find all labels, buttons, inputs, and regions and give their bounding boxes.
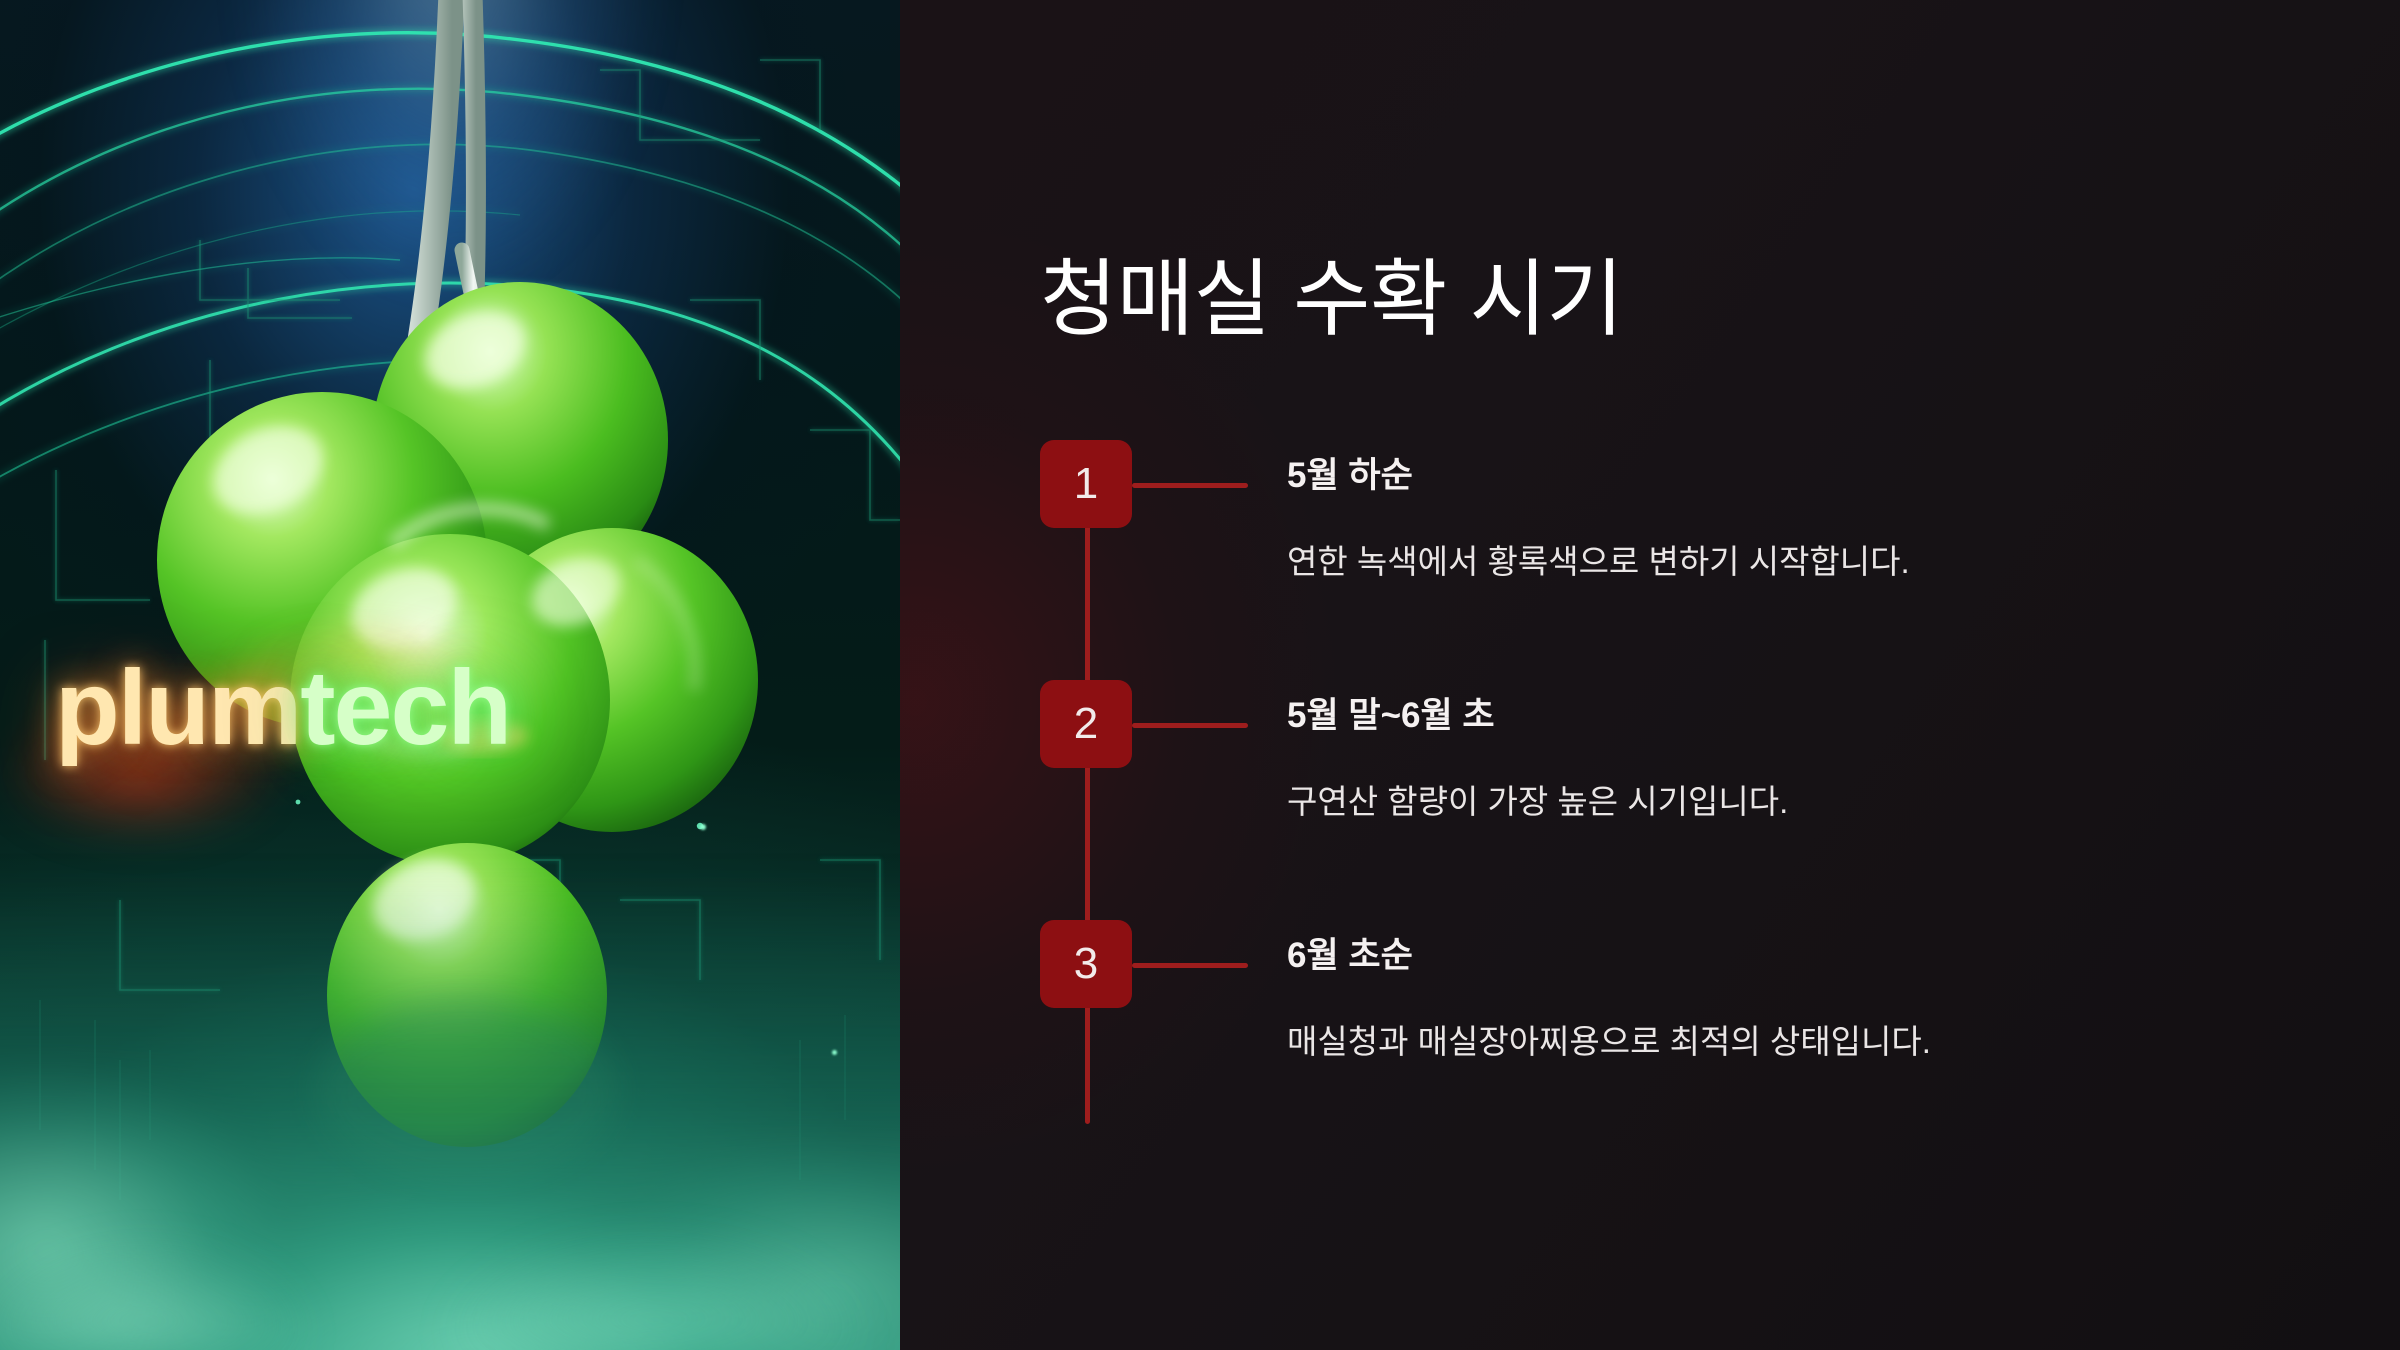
sparkle-dot [832,1050,837,1055]
timeline-step-badge: 3 [1040,920,1132,1008]
timeline-step-badge: 2 [1040,680,1132,768]
timeline-item-text: 6월 초순 매실청과 매실장아찌용으로 최적의 상태입니다. [1287,920,2297,1064]
timeline-item-description: 매실청과 매실장아찌용으로 최적의 상태입니다. [1287,1020,2297,1065]
timeline-item-text: 5월 말~6월 초 구연산 함량이 가장 높은 시기입니다. [1287,680,2297,824]
sparkle-dot [700,824,706,830]
timeline-item-description: 구연산 함량이 가장 높은 시기입니다. [1287,780,2297,825]
brand-logo: plumtech [55,655,510,761]
green-mist-foreground [0,1050,900,1350]
harvest-timeline: 1 5월 하순 연한 녹색에서 황록색으로 변하기 시작합니다. 2 5월 말~… [1040,440,2300,920]
timeline-item-text: 5월 하순 연한 녹색에서 황록색으로 변하기 시작합니다. [1287,440,2297,584]
timeline-item-heading: 6월 초순 [1287,934,2297,978]
timeline-connector [1132,963,1248,968]
content-panel: 청매실 수확 시기 1 5월 하순 연한 녹색에서 황록색으로 변하기 시작합니… [900,0,2400,1350]
timeline-step-badge: 1 [1040,440,1132,528]
product-visual-panel: plumtech [0,0,900,1350]
timeline-connector [1132,483,1248,488]
brand-logo-primary: plum [55,649,300,767]
brand-logo-secondary: tech [300,649,510,767]
timeline-item-heading: 5월 하순 [1287,454,2297,498]
timeline-connector [1132,723,1248,728]
timeline-item: 1 5월 하순 연한 녹색에서 황록색으로 변하기 시작합니다. [1040,440,2300,680]
timeline-item-heading: 5월 말~6월 초 [1287,694,2297,738]
timeline-item: 2 5월 말~6월 초 구연산 함량이 가장 높은 시기입니다. [1040,680,2300,920]
slide-root: plumtech 청매실 수확 시기 1 5월 하순 연한 녹색에서 황록색으로… [0,0,2400,1350]
page-title: 청매실 수확 시기 [1040,252,1623,346]
timeline-item-description: 연한 녹색에서 황록색으로 변하기 시작합니다. [1287,540,2297,585]
